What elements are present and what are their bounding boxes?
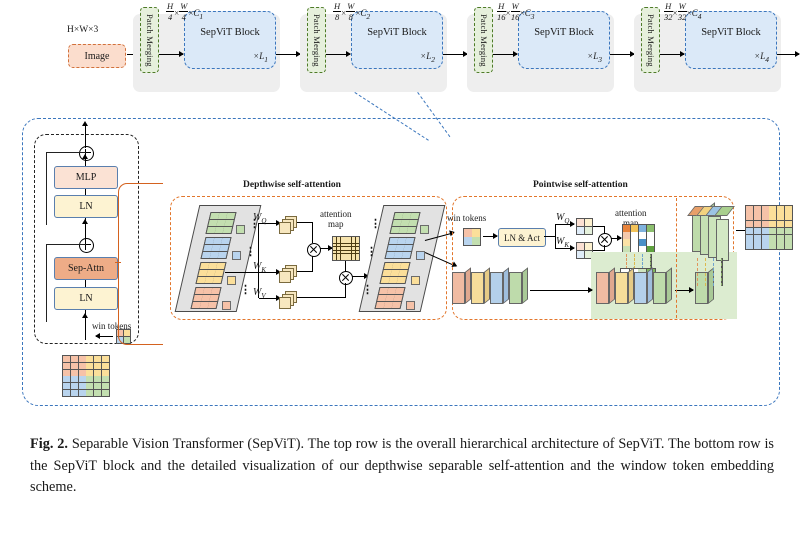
sepvit-block-2-label: SepViT Block [352,27,442,38]
q-to-mul-v [312,222,313,243]
win-token-green-in [236,225,245,234]
arrow-pm4-to-block4 [660,54,684,55]
arrow-qk-to-attnmap [320,248,332,249]
dash-weight-1 [626,254,627,269]
input-dims-label: H×W×3 [67,25,98,35]
stage-4-dims: H32×W32×C4 [664,2,702,22]
arrow-features-to-aggregation [530,290,592,291]
depthwise-attention-map-label: attentionmap [320,209,352,229]
k-to-mul-v [312,256,313,272]
stage-1-dims: H4×W4×C1 [166,2,203,22]
arrow-pm2-to-block2 [326,54,350,55]
arrow-wintokens-to-lnact [483,236,497,237]
arrow-stage4-out [777,54,799,55]
win-token-blue-out [416,251,425,260]
stage-2-dims: H8×W8×C2 [333,2,370,22]
window-yellow-out [379,262,410,284]
wq-label-depthwise: WQ [253,212,266,225]
v-to-mul2-v [345,283,346,298]
patch-merging-2: Patch Merging [307,7,326,73]
arrow-stage3-to-stage4 [610,54,634,55]
arrow-wintokens-into-block [96,336,113,337]
win-token-yellow-out [411,276,420,285]
k-to-mul-h [297,271,313,272]
depthwise-attention-map-grid [332,236,360,261]
arrow-stage1-to-stage2 [276,54,300,55]
wq-label-pointwise: WQ [556,212,569,225]
skip-connection-bottom [46,244,86,322]
window-pink-in [190,287,221,309]
win-token-green-out [420,225,429,234]
sepvit-block-1-label: SepViT Block [185,27,275,38]
depthwise-in-dots-2: ⋮ [245,250,256,254]
pointwise-multiply-icon [598,233,612,247]
win-token-pink-out [406,301,415,310]
stage-3-dims: H16×W16×C3 [497,2,535,22]
dash-channel-blue [713,258,714,286]
window-yellow-in [195,262,226,284]
sepvit-block-2-repeat: ×L2 [420,51,435,64]
window-blue-in [200,237,231,259]
v-to-mul2-h [297,297,345,298]
depthwise-out-dots-1: ⋮ [370,222,381,226]
window-green-in [205,212,236,234]
dash-weight-2 [634,254,635,269]
q-to-mul-h [297,222,313,223]
wk-label-depthwise: WK [253,261,266,274]
dash-channel-green [721,258,723,286]
arrow-block-out-top [85,126,86,148]
depthwise-header: Depthwise self-attention [243,180,341,190]
arrow-pm3-to-block3 [493,54,517,55]
output-feature-map-grid [745,205,793,250]
depthwise-out-dots-3: ⋮ [362,288,373,292]
patch-merging-1: Patch Merging [140,7,159,73]
arrow-pm1-to-block1 [159,54,183,55]
input-feature-map-grid [62,355,110,397]
sepvit-block-4-repeat: ×L4 [754,51,769,64]
q-tokens-2x2 [576,218,593,235]
win-tokens-label-pointwise: win tokens [447,213,486,223]
figure-caption-text: Separable Vision Transformer (SepViT). T… [30,436,774,495]
figure-root: H×W×3 Image Patch Merging SepViT Block ×… [0,0,803,543]
figure-caption: Fig. 2. Separable Vision Transformer (Se… [30,434,774,499]
depthwise-out-dots-2: ⋮ [366,250,377,254]
win-tokens-2x2-pointwise [463,228,481,246]
k-stack-card-1 [279,271,291,283]
q-stack-card-1 [279,222,291,234]
pointwise-attention-map-grid [622,224,655,254]
win-token-blue-in [232,251,241,260]
sepvit-block-4-label: SepViT Block [686,27,776,38]
qk-multiply-icon [307,243,321,257]
win-token-yellow-in [227,276,236,285]
window-blue-out [384,237,415,259]
sepvit-block-3-repeat: ×L3 [587,51,602,64]
v-stack-card-1 [279,297,291,309]
arrow-to-pointwise-attnmap [611,238,621,239]
skip-connection-top [46,152,86,225]
brace-stem [115,262,121,263]
patch-merging-3: Patch Merging [474,7,493,73]
win-token-pink-in [222,301,231,310]
arrow-stage2-to-stage3 [443,54,467,55]
depthwise-in-dots-3: ⋮ [240,288,251,292]
window-pink-out [374,287,405,309]
window-green-out [389,212,420,234]
patch-merging-4: Patch Merging [641,7,660,73]
ln-and-act-box: LN & Act [498,228,546,247]
dash-channel-yellow [705,258,706,286]
sepvit-block-3-label: SepViT Block [519,27,609,38]
sepvit-block-1-repeat: ×L1 [253,51,268,64]
wk-label-pointwise: WK [556,236,569,249]
expansion-brace [118,183,163,345]
figure-label: Fig. 2. [30,436,68,452]
pointwise-header: Pointwise self-attention [533,180,628,190]
dash-weight-3 [642,254,643,269]
dash-route-orange [676,198,678,318]
dash-channel-pink [697,258,698,286]
wv-label-depthwise: WV [253,287,266,300]
input-image-box: Image [68,44,126,68]
